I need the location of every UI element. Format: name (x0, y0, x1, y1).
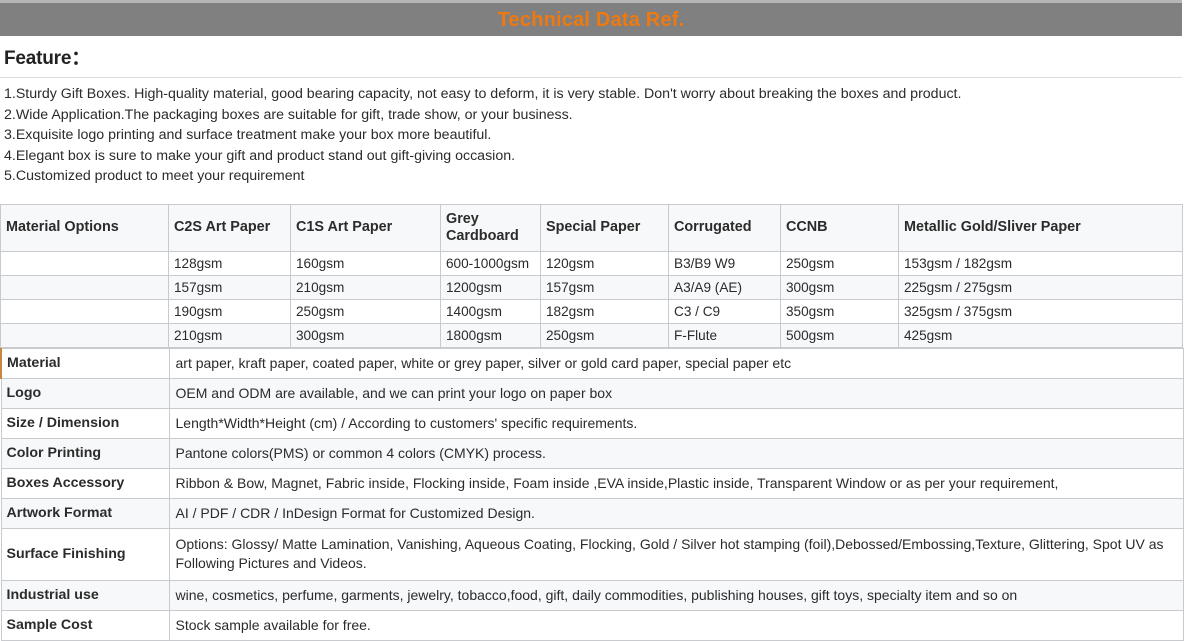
col-header-corrugated: Corrugated (669, 204, 781, 251)
cell: 1400gsm (441, 299, 541, 323)
spec-row-size-dimension: Size / Dimension Length*Width*Height (cm… (1, 408, 1183, 438)
spec-row-artwork-format: Artwork Format AI / PDF / CDR / InDesign… (1, 498, 1183, 528)
cell: 250gsm (291, 299, 441, 323)
cell (1, 299, 169, 323)
col-header-c1s-art-paper: C1S Art Paper (291, 204, 441, 251)
materials-table: Material Options C2S Art Paper C1S Art P… (0, 204, 1183, 348)
cell: 225gsm / 275gsm (899, 275, 1183, 299)
table-row: 210gsm 300gsm 1800gsm 250gsm F-Flute 500… (1, 323, 1183, 347)
table-row: 128gsm 160gsm 600-1000gsm 120gsm B3/B9 W… (1, 251, 1183, 275)
col-header-metallic-paper: Metallic Gold/Sliver Paper (899, 204, 1183, 251)
spec-value: Stock sample available for free. (169, 610, 1183, 640)
specifications-table: Material art paper, kraft paper, coated … (0, 348, 1184, 641)
feature-line: 4.Elegant box is sure to make your gift … (4, 146, 1178, 167)
feature-line: 1.Sturdy Gift Boxes. High-quality materi… (4, 84, 1178, 105)
spec-row-material: Material art paper, kraft paper, coated … (1, 348, 1183, 378)
cell: 350gsm (781, 299, 899, 323)
cell: 210gsm (291, 275, 441, 299)
feature-line: 5.Customized product to meet your requir… (4, 166, 1178, 187)
col-header-grey-cardboard: Grey Cardboard (441, 204, 541, 251)
cell: 190gsm (169, 299, 291, 323)
spec-value: OEM and ODM are available, and we can pr… (169, 378, 1183, 408)
cell: 600-1000gsm (441, 251, 541, 275)
spec-value: AI / PDF / CDR / InDesign Format for Cus… (169, 498, 1183, 528)
cell: 300gsm (781, 275, 899, 299)
cell: 210gsm (169, 323, 291, 347)
cell: 157gsm (541, 275, 669, 299)
spec-label: Boxes Accessory (1, 468, 169, 498)
cell: C3 / C9 (669, 299, 781, 323)
page-title: Technical Data Ref. (498, 10, 685, 30)
cell: F-Flute (669, 323, 781, 347)
spec-row-surface-finishing: Surface Finishing Options: Glossy/ Matte… (1, 528, 1183, 580)
cell: 1200gsm (441, 275, 541, 299)
spec-row-color-printing: Color Printing Pantone colors(PMS) or co… (1, 438, 1183, 468)
spec-label: Logo (1, 378, 169, 408)
col-header-c2s-art-paper: C2S Art Paper (169, 204, 291, 251)
spec-label: Artwork Format (1, 498, 169, 528)
spec-row-sample-cost: Sample Cost Stock sample available for f… (1, 610, 1183, 640)
technical-data-sheet: Technical Data Ref. Feature： 1.Sturdy Gi… (0, 0, 1187, 620)
spec-value: art paper, kraft paper, coated paper, wh… (169, 348, 1183, 378)
cell: 120gsm (541, 251, 669, 275)
cell: 250gsm (781, 251, 899, 275)
cell: 325gsm / 375gsm (899, 299, 1183, 323)
spec-value: Options: Glossy/ Matte Lamination, Vanis… (169, 528, 1183, 580)
cell: 1800gsm (441, 323, 541, 347)
spec-value: Pantone colors(PMS) or common 4 colors (… (169, 438, 1183, 468)
cell (1, 251, 169, 275)
cell: A3/A9 (AE) (669, 275, 781, 299)
spec-label: Surface Finishing (1, 528, 169, 580)
cell: 250gsm (541, 323, 669, 347)
table-header-row: Material Options C2S Art Paper C1S Art P… (1, 204, 1183, 251)
spec-label: Industrial use (1, 580, 169, 610)
cell: 153gsm / 182gsm (899, 251, 1183, 275)
spec-label: Sample Cost (1, 610, 169, 640)
table-row: 190gsm 250gsm 1400gsm 182gsm C3 / C9 350… (1, 299, 1183, 323)
spec-label: Color Printing (1, 438, 169, 468)
spec-value: Ribbon & Bow, Magnet, Fabric inside, Flo… (169, 468, 1183, 498)
cell: 157gsm (169, 275, 291, 299)
cell: 128gsm (169, 251, 291, 275)
spec-row-boxes-accessory: Boxes Accessory Ribbon & Bow, Magnet, Fa… (1, 468, 1183, 498)
spec-value: Length*Width*Height (cm) / According to … (169, 408, 1183, 438)
spec-label: Material (1, 348, 169, 378)
feature-heading: Feature： (0, 36, 1182, 78)
cell: 500gsm (781, 323, 899, 347)
col-header-material-options: Material Options (1, 204, 169, 251)
spec-value: wine, cosmetics, perfume, garments, jewe… (169, 580, 1183, 610)
cell (1, 275, 169, 299)
feature-line: 2.Wide Application.The packaging boxes a… (4, 105, 1178, 126)
cell: B3/B9 W9 (669, 251, 781, 275)
cell: 182gsm (541, 299, 669, 323)
cell: 300gsm (291, 323, 441, 347)
cell: 425gsm (899, 323, 1183, 347)
feature-list: 1.Sturdy Gift Boxes. High-quality materi… (0, 78, 1182, 195)
col-header-special-paper: Special Paper (541, 204, 669, 251)
cell: 160gsm (291, 251, 441, 275)
col-header-ccnb: CCNB (781, 204, 899, 251)
title-bar: Technical Data Ref. (0, 0, 1182, 36)
feature-line: 3.Exquisite logo printing and surface tr… (4, 125, 1178, 146)
cell (1, 323, 169, 347)
table-row: 157gsm 210gsm 1200gsm 157gsm A3/A9 (AE) … (1, 275, 1183, 299)
spec-label: Size / Dimension (1, 408, 169, 438)
spec-row-logo: Logo OEM and ODM are available, and we c… (1, 378, 1183, 408)
spec-row-industrial-use: Industrial use wine, cosmetics, perfume,… (1, 580, 1183, 610)
